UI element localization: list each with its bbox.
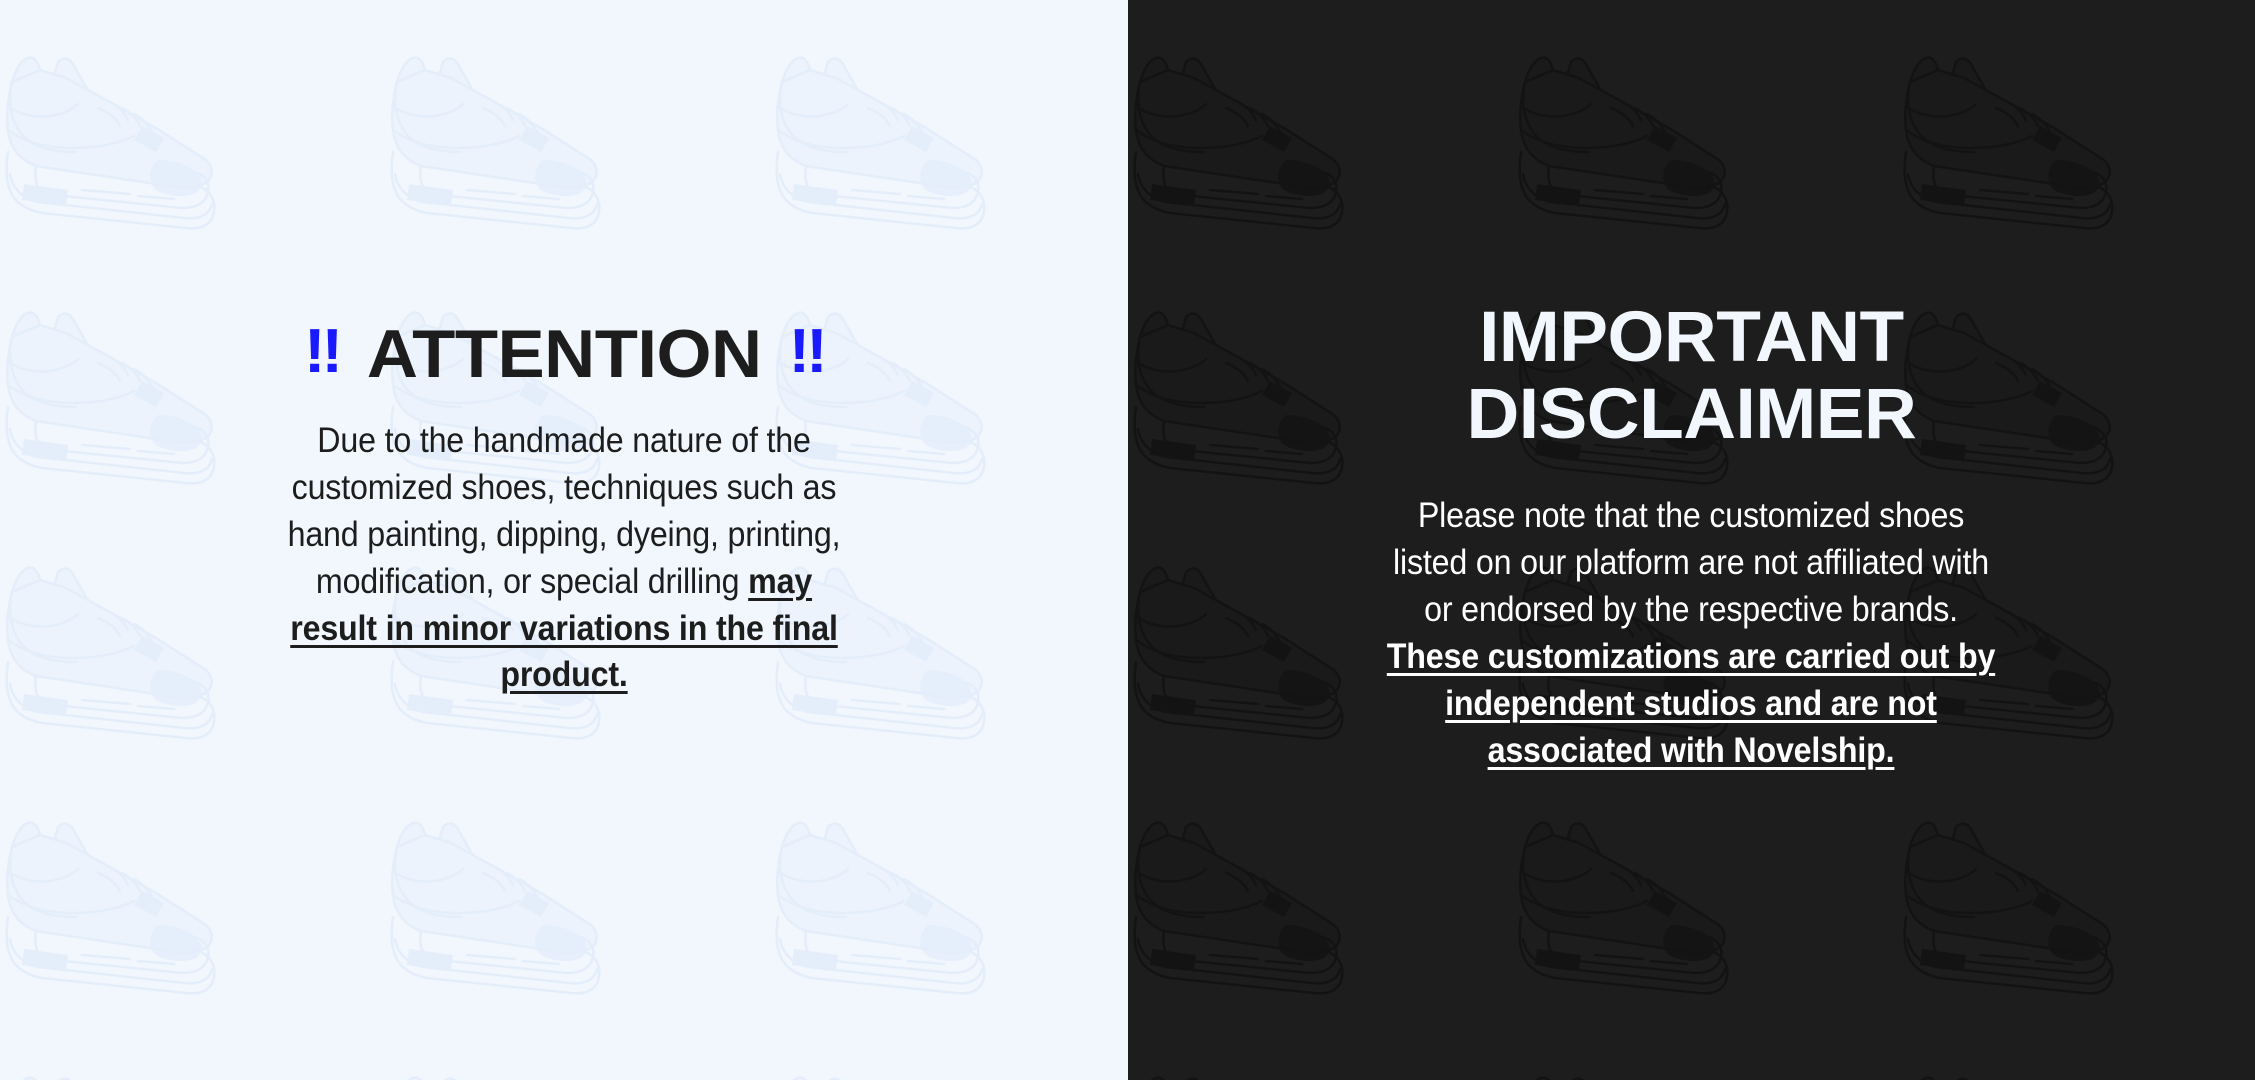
disclaimer-content: IMPORTANT DISCLAIMER Please note that th… — [1128, 0, 2255, 775]
disclaimer-heading-line2: DISCLAIMER — [1466, 375, 1916, 454]
disclaimer-heading-line1: IMPORTANT — [1479, 298, 1904, 377]
disclaimer-body: Please note that the customized shoes li… — [1383, 493, 1999, 774]
disclaimer-panel: IMPORTANT DISCLAIMER Please note that th… — [1128, 0, 2255, 1080]
attention-body: Due to the handmade nature of the custom… — [269, 418, 858, 699]
attention-heading-text: ATTENTION — [366, 320, 761, 388]
attention-content: ‼ ATTENTION ‼ Due to the handmade nature… — [0, 0, 1128, 699]
attention-panel: ‼ ATTENTION ‼ Due to the handmade nature… — [0, 0, 1128, 1080]
customization-notice-banner: ‼ ATTENTION ‼ Due to the handmade nature… — [0, 0, 2255, 1080]
double-exclamation-icon-left: ‼ — [304, 321, 340, 383]
disclaimer-body-emphasis: These customizations are carried out by … — [1387, 637, 1995, 770]
attention-heading: ‼ ATTENTION ‼ — [304, 320, 824, 388]
disclaimer-body-normal: Please note that the customized shoes li… — [1393, 496, 1989, 629]
double-exclamation-icon-right: ‼ — [788, 321, 824, 383]
disclaimer-heading: IMPORTANT DISCLAIMER — [1466, 300, 1916, 453]
